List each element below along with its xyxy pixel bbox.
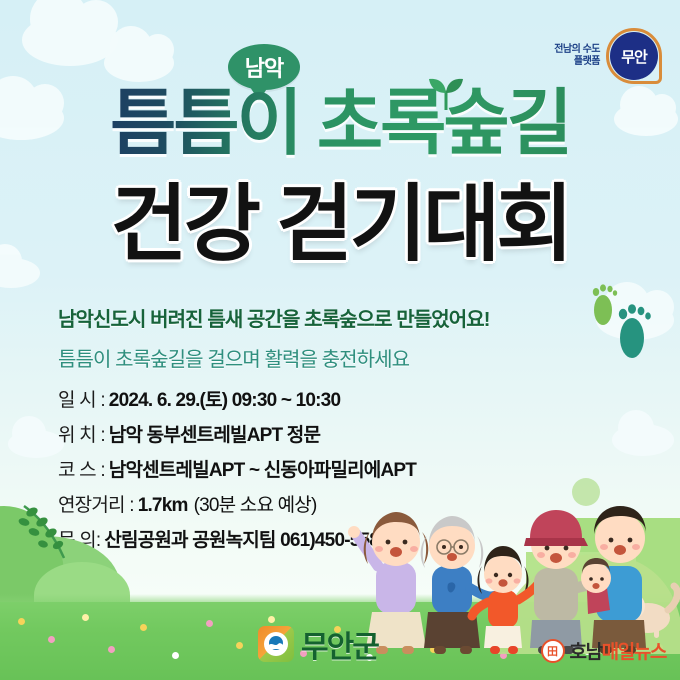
info-label: 위 치 : xyxy=(58,420,105,447)
muan-county-logo: 무안군 xyxy=(258,622,378,666)
flower-decoration xyxy=(206,620,213,627)
info-value: 1.7km xyxy=(138,495,188,517)
title-line1-part1: 틈틈이 xyxy=(110,84,300,164)
news-logo-name: 호남매일뉴스 xyxy=(570,637,667,664)
subtitle-line2: 틈틈이 초록숲길을 걸으며 활력을 충전하세요 xyxy=(58,343,409,372)
event-poster: 전남의 수도 플랫폼 무안 남악 틈틈이 초록숲길 건강 걷기대회 xyxy=(0,0,680,680)
news-name-part1: 호남 xyxy=(570,642,602,663)
leaf-branch-icon xyxy=(18,500,82,560)
flower-decoration xyxy=(108,646,115,653)
cloud-decoration xyxy=(104,44,174,82)
flower-decoration xyxy=(82,614,89,621)
info-row-location: 위 치 : 남악 동부센트레빌APT 정문 xyxy=(58,420,578,447)
brand-tagline-line2: 플랫폼 xyxy=(554,56,600,69)
title-line1: 틈틈이 초록숲길 xyxy=(0,88,680,160)
muan-logo-mark xyxy=(258,626,294,662)
muan-badge: 무안 xyxy=(606,28,662,84)
badge-label: 무안 xyxy=(610,32,658,80)
muan-platform-logo: 전남의 수도 플랫폼 무안 xyxy=(554,28,662,84)
flower-decoration xyxy=(172,652,179,659)
cloud-decoration xyxy=(8,430,64,458)
news-logo-mark: 田 xyxy=(541,639,565,663)
info-label: 일 시 : xyxy=(58,385,105,412)
family-illustration xyxy=(348,470,680,654)
sprout-icon xyxy=(426,76,466,110)
flower-decoration xyxy=(18,618,25,625)
person-grandmother xyxy=(421,516,494,654)
news-name-part2: 매일뉴스 xyxy=(602,642,666,663)
honam-news-logo: 田 호남매일뉴스 xyxy=(541,637,667,664)
info-value: 산림공원과 공원녹지팀 061)450-5588 xyxy=(104,525,388,552)
title-line2: 건강 걷기대회 xyxy=(0,182,680,266)
subtitle-line1: 남악신도시 버려진 틈새 공간을 초록숲으로 만들었어요! xyxy=(58,303,490,332)
muan-county-name: 무안군 xyxy=(301,622,378,666)
info-label: 코 스 : xyxy=(58,455,105,482)
muan-logo-mark-inner xyxy=(264,632,288,656)
flower-decoration xyxy=(140,624,147,631)
cloud-decoration xyxy=(612,424,674,456)
info-value: 2024. 6. 29.(토) 09:30 ~ 10:30 xyxy=(109,385,340,412)
flower-decoration xyxy=(48,636,55,643)
flower-decoration xyxy=(236,642,243,649)
footprints-icon xyxy=(586,274,666,366)
cloud-decoration xyxy=(22,14,118,66)
muan-emblem-icon xyxy=(267,635,285,653)
info-suffix: (30분 소요 예상) xyxy=(194,490,317,517)
info-row-date: 일 시 : 2024. 6. 29.(토) 09:30 ~ 10:30 xyxy=(58,385,578,412)
brand-tagline-line1: 전남의 수도 xyxy=(554,44,600,57)
info-value: 남악 동부센트레빌APT 정문 xyxy=(109,420,320,447)
brand-tagline: 전남의 수도 플랫폼 xyxy=(554,44,600,69)
